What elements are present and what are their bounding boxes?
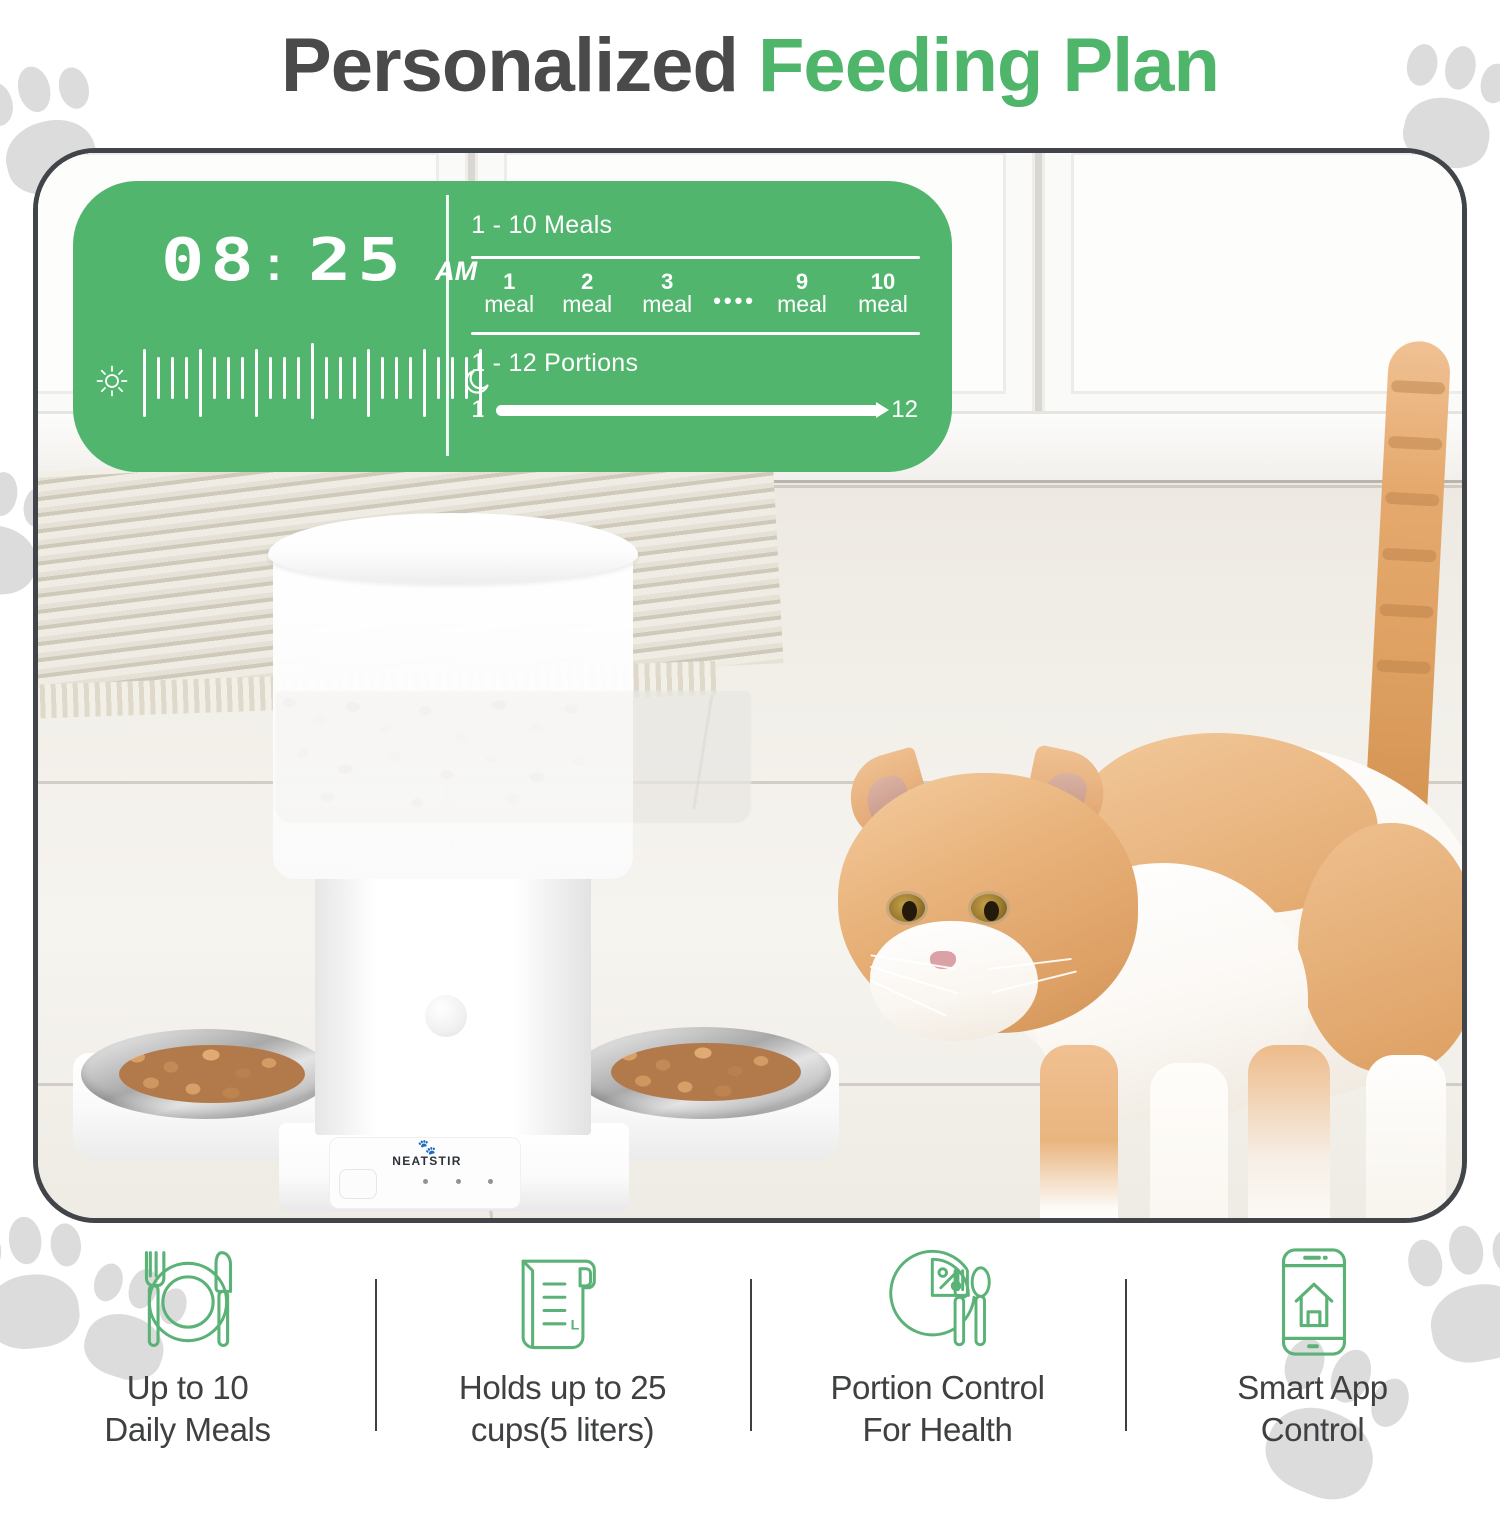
svg-text:L: L (570, 1318, 579, 1334)
feeder-manual-button[interactable] (339, 1169, 377, 1199)
paw-print-icon: 🐾 (363, 1141, 491, 1154)
lcd-clock: 08 : 25 AM (161, 225, 477, 294)
portions-heading: 1 - 12 Portions (471, 349, 952, 378)
portion-slider[interactable]: 1 12 (471, 396, 918, 424)
timeline-ticks (143, 345, 447, 417)
meal-option[interactable]: 3 meal (627, 271, 707, 316)
pet-feeder-device: 🐾 NEATSTIR (253, 513, 773, 1203)
feature-portion-control: Portion Control For Health (750, 1243, 1125, 1471)
brand-name: NEATSTIR (363, 1154, 491, 1168)
plate-fork-knife-icon (125, 1243, 251, 1361)
meal-option-label: meal (842, 292, 924, 316)
portion-slider-min: 1 (471, 396, 484, 424)
page-title-accent: Feeding Plan (758, 23, 1219, 108)
meal-option-label: meal (547, 292, 627, 316)
clock-colon: : (266, 237, 282, 292)
cat-leg (1248, 1045, 1330, 1218)
brand-logo: 🐾 NEATSTIR (363, 1141, 491, 1168)
feeding-schedule-panel: 08 : 25 AM (73, 181, 952, 472)
status-led-group (423, 1179, 493, 1184)
cat-leg (1040, 1045, 1118, 1218)
cat-muzzle (870, 921, 1038, 1041)
feature-label: Smart App Control (1237, 1367, 1387, 1451)
clock-hours: 08 (161, 225, 260, 294)
feature-label: Holds up to 25 cups(5 liters) (459, 1367, 666, 1451)
meal-option-label: meal (627, 292, 707, 316)
meal-option[interactable]: 2 meal (547, 271, 627, 316)
meal-option-label: meal (471, 292, 547, 316)
meal-option[interactable]: 10 meal (842, 271, 924, 316)
feature-strip: Up to 10 Daily Meals L Holds up to 25 cu… (0, 1243, 1500, 1471)
feature-label: Up to 10 Daily Meals (104, 1367, 270, 1451)
meal-option[interactable]: 1 meal (471, 271, 547, 316)
clock-section: 08 : 25 AM (73, 181, 446, 472)
portion-slider-track[interactable] (496, 405, 881, 416)
meal-count-options: 1 meal 2 meal 3 meal •••• 9 meal 10 (471, 271, 924, 316)
cat-eye (886, 891, 928, 925)
plate-percent-fork-spoon-icon (876, 1243, 1000, 1361)
status-led (456, 1179, 461, 1184)
meal-option-number: 9 (762, 271, 842, 292)
feature-label: Portion Control For Health (830, 1367, 1044, 1451)
smartphone-home-icon (1267, 1243, 1359, 1361)
meal-option[interactable]: 9 meal (762, 271, 842, 316)
hopper-lid (268, 513, 638, 583)
meal-option-number: 2 (547, 271, 627, 292)
schedule-settings: 1 - 10 Meals 1 meal 2 meal 3 meal •••• 9 (446, 195, 952, 456)
page-title-primary: Personalized (281, 23, 758, 108)
meal-option-number: 10 (842, 271, 924, 292)
feature-daily-meals: Up to 10 Daily Meals (0, 1243, 375, 1471)
measuring-jug-icon: L (506, 1243, 620, 1361)
clock-minutes: 25 (308, 225, 407, 294)
page-title: Personalized Feeding Plan (0, 28, 1500, 104)
cat-leg (1150, 1063, 1228, 1218)
feature-app-control: Smart App Control (1125, 1243, 1500, 1471)
hopper-translucent-shell (273, 549, 633, 879)
feature-capacity: L Holds up to 25 cups(5 liters) (375, 1243, 750, 1471)
meal-option-number: 1 (471, 271, 547, 292)
status-led (488, 1179, 493, 1184)
status-led (423, 1179, 428, 1184)
right-bowl-food (611, 1043, 801, 1101)
portion-slider-max: 12 (891, 396, 918, 424)
portions-divider (471, 332, 920, 335)
meal-option-number: 3 (627, 271, 707, 292)
cat-leg (1366, 1055, 1446, 1218)
meal-option-label: meal (762, 292, 842, 316)
meals-divider (471, 256, 920, 259)
day-night-timeline (95, 341, 495, 421)
cat-eye (968, 891, 1010, 925)
meal-options-ellipsis: •••• (707, 288, 762, 316)
meals-heading: 1 - 10 Meals (471, 211, 952, 240)
left-bowl-food (119, 1045, 305, 1103)
feeder-dispense-button[interactable] (425, 995, 467, 1037)
sun-icon (95, 364, 129, 398)
